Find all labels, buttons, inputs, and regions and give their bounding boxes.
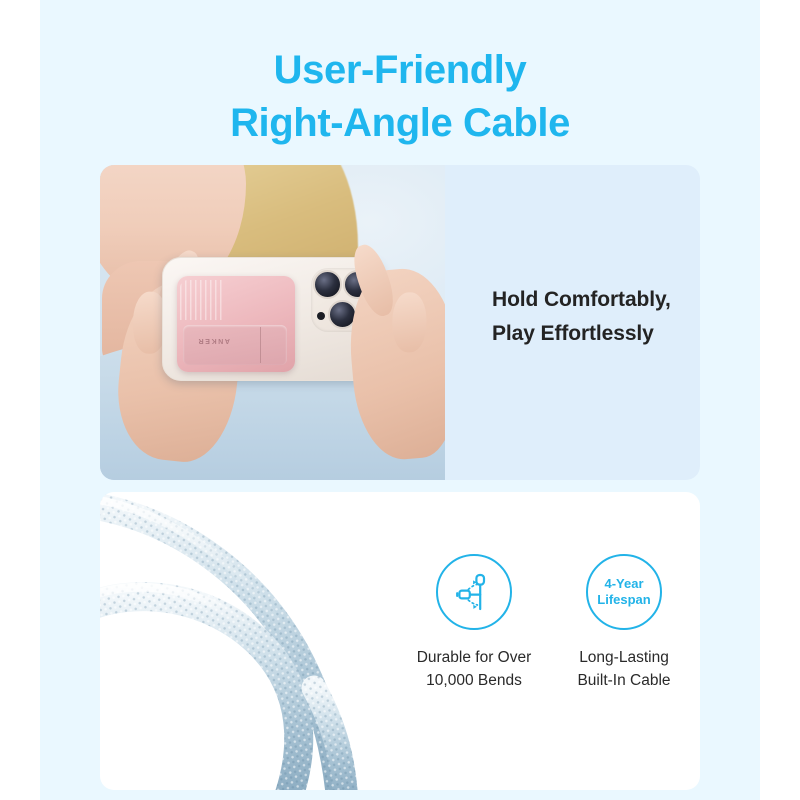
anker-logo: ANKER bbox=[197, 337, 230, 344]
finger bbox=[392, 292, 427, 353]
hero-copy-line-1: Hold Comfortably, bbox=[492, 283, 671, 317]
four-year-lifespan-badge: 4-Year Lifespan bbox=[586, 554, 662, 630]
page-headline: User-Friendly Right-Angle Cable bbox=[40, 44, 760, 150]
feature-list: Durable for Over 10,000 Bends 4-Year Lif… bbox=[410, 554, 700, 693]
braided-cable-photo bbox=[100, 492, 430, 790]
badge-line-1: 4-Year bbox=[597, 576, 650, 592]
feature-caption-line-1: Long-Lasting bbox=[560, 646, 688, 669]
feature-caption: Durable for Over 10,000 Bends bbox=[410, 646, 538, 693]
product-marketing-image: User-Friendly Right-Angle Cable bbox=[0, 0, 800, 800]
feature-item-lifespan: 4-Year Lifespan Long-Lasting Built-In Ca… bbox=[560, 554, 688, 693]
feature-caption-line-1: Durable for Over bbox=[410, 646, 538, 669]
feature-caption-line-2: Built-In Cable bbox=[560, 669, 688, 692]
feature-caption: Long-Lasting Built-In Cable bbox=[560, 646, 688, 693]
feature-item-bends: Durable for Over 10,000 Bends bbox=[410, 554, 538, 693]
camera-lens bbox=[313, 270, 342, 299]
headline-line-2: Right-Angle Cable bbox=[40, 97, 760, 150]
hero-copy-line-2: Play Effortlessly bbox=[492, 317, 671, 351]
hero-photo: ANKER bbox=[100, 165, 445, 480]
kickstand: ANKER bbox=[183, 325, 287, 365]
feature-card: Durable for Over 10,000 Bends 4-Year Lif… bbox=[100, 492, 700, 790]
power-bank: ANKER bbox=[177, 276, 295, 372]
canvas: User-Friendly Right-Angle Cable bbox=[40, 0, 760, 800]
badge-line-2: Lifespan bbox=[597, 592, 650, 608]
headline-line-1: User-Friendly bbox=[274, 48, 527, 92]
feature-caption-line-2: 10,000 Bends bbox=[410, 669, 538, 692]
lidar-sensor bbox=[317, 312, 325, 320]
kickstand-seam bbox=[260, 327, 262, 363]
hero-card: ANKER Hold Comfortably, Play Effortlessl… bbox=[100, 165, 700, 480]
badge-text: 4-Year Lifespan bbox=[597, 576, 650, 608]
power-bank-ribs bbox=[180, 280, 224, 320]
right-angle-cable-bend-icon bbox=[436, 554, 512, 630]
hero-copy: Hold Comfortably, Play Effortlessly bbox=[492, 283, 671, 351]
